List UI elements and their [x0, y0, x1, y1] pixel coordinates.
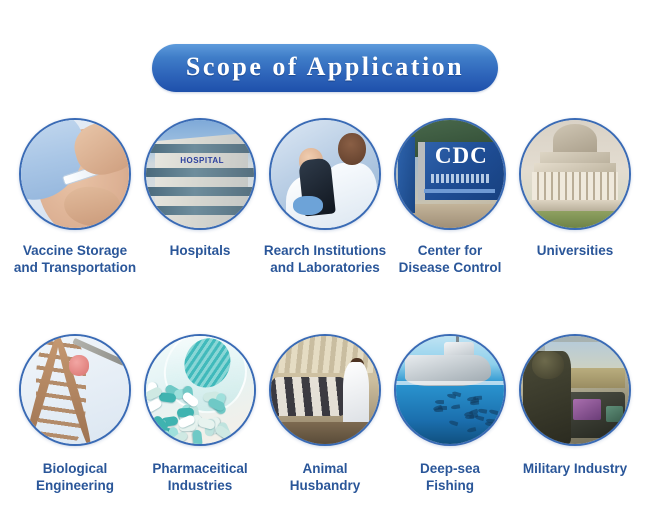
fish-shape: [438, 406, 447, 410]
circle-image-hospitals[interactable]: HOSPITAL: [144, 118, 256, 230]
fishing-vessel-ocean-icon: [396, 336, 504, 444]
scope-item-label: Biological Engineering: [9, 460, 141, 494]
scope-item-label: Center for Disease Control: [384, 242, 516, 276]
scope-item-biological-engineering[interactable]: Biological Engineering: [16, 334, 134, 494]
military-vehicle-cockpit-icon: [521, 336, 629, 444]
vaccine-injection-icon: [21, 120, 129, 228]
circle-image-pharmaceutical-industries[interactable]: [144, 334, 256, 446]
fish-shape: [478, 408, 488, 414]
circle-image-animal-husbandry[interactable]: [269, 334, 381, 446]
hospital-building-icon: HOSPITAL: [146, 120, 254, 228]
hospital-sign-text: HOSPITAL: [176, 156, 228, 169]
circle-image-cdc[interactable]: CDC: [394, 118, 506, 230]
scope-item-universities[interactable]: Universities: [516, 118, 634, 276]
scope-item-deep-sea-fishing[interactable]: Deep-sea Fishing: [391, 334, 509, 494]
circle-image-deep-sea-fishing[interactable]: [394, 334, 506, 446]
laboratory-scientists-icon: [271, 120, 379, 228]
scope-item-label: Deep-sea Fishing: [384, 460, 516, 494]
pills-capsules-icon: [146, 336, 254, 444]
scope-item-label: Hospitals: [134, 242, 266, 259]
scope-item-label: Vaccine Storage and Transportation: [9, 242, 141, 276]
fish-shape: [484, 422, 493, 427]
grid-row-1: Vaccine Storage and Transportation HOSPI…: [0, 118, 650, 276]
scope-item-military-industry[interactable]: Military Industry: [516, 334, 634, 494]
pill-shape: [214, 424, 233, 441]
application-scope-grid: Vaccine Storage and Transportation HOSPI…: [0, 118, 650, 494]
cdc-sign-text: CDC: [435, 144, 498, 168]
scope-item-label: Pharmaceitical Industries: [134, 460, 266, 494]
pill-shape: [192, 430, 203, 446]
university-building-icon: [521, 120, 629, 228]
fish-shape: [451, 405, 461, 410]
fish-shape: [449, 419, 459, 426]
scope-item-label: Rearch Institutions and Laboratories: [259, 242, 391, 276]
scope-item-center-for-disease-control[interactable]: CDC Center for Disease Control: [391, 118, 509, 276]
circle-image-biological-engineering[interactable]: [19, 334, 131, 446]
circle-image-research-institutions[interactable]: [269, 118, 381, 230]
title-banner-wrapper: Scope of Application: [0, 44, 650, 92]
dna-helix-icon: [21, 336, 129, 444]
scope-item-vaccine-storage[interactable]: Vaccine Storage and Transportation: [16, 118, 134, 276]
scope-item-pharmaceutical-industries[interactable]: Pharmaceitical Industries: [141, 334, 259, 494]
fish-shape: [435, 400, 444, 404]
grid-row-2: Biological Engineering Pharmaceitical In…: [0, 334, 650, 494]
dairy-barn-cows-icon: [271, 336, 379, 444]
title-banner: Scope of Application: [152, 44, 498, 92]
fish-shape: [467, 428, 477, 434]
scope-item-hospitals[interactable]: HOSPITAL Hospitals: [141, 118, 259, 276]
scope-item-research-institutions[interactable]: Rearch Institutions and Laboratories: [266, 118, 384, 276]
scope-item-label: Animal Husbandry: [259, 460, 391, 494]
fish-shape: [489, 408, 499, 414]
circle-image-military-industry[interactable]: [519, 334, 631, 446]
circle-image-universities[interactable]: [519, 118, 631, 230]
scope-item-label: Military Industry: [509, 460, 641, 477]
scope-item-animal-husbandry[interactable]: Animal Husbandry: [266, 334, 384, 494]
circle-image-vaccine-storage[interactable]: [19, 118, 131, 230]
scope-item-label: Universities: [509, 242, 641, 259]
page-title: Scope of Application: [186, 52, 464, 82]
cdc-sign-icon: CDC: [396, 120, 504, 228]
